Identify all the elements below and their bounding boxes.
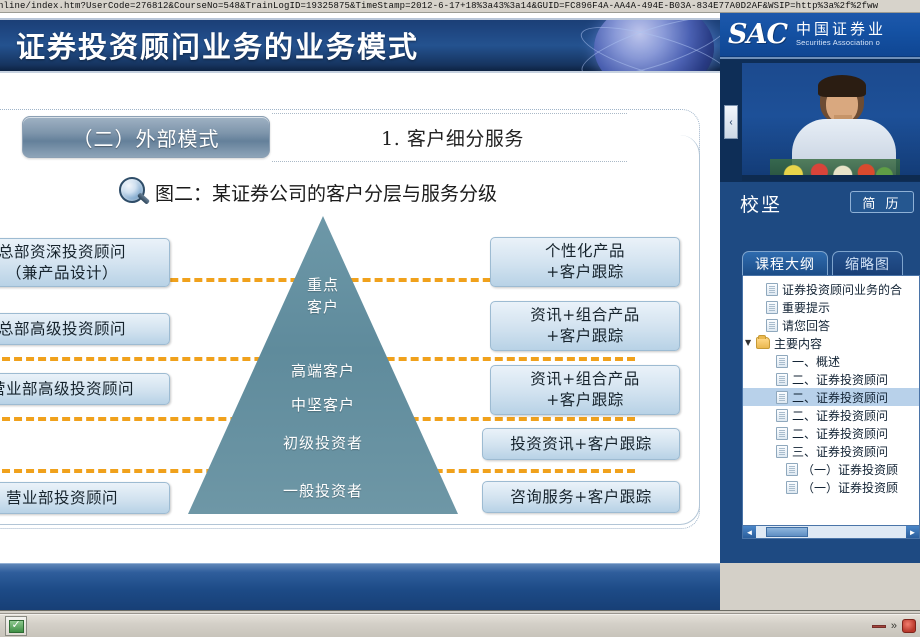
advisor-role-box-1: 总部资深投资顾问 （兼产品设计） (0, 238, 170, 287)
system-tray: » (872, 616, 916, 636)
outline-item[interactable]: （一）证券投资顾 (743, 460, 919, 478)
scroll-right-button[interactable]: ► (906, 526, 919, 538)
outline-item[interactable]: 重要提示 (743, 298, 919, 316)
scroll-left-button[interactable]: ◄ (743, 526, 756, 538)
course-outline-tree[interactable]: 证券投资顾问业务的合重要提示请您回答▼主要内容一、概述二、证券投资顾问二、证券投… (742, 275, 920, 533)
service-box-2-line-1: 资讯+组合产品 (530, 305, 640, 326)
lecturer-row: 校坚 简 历 (720, 182, 920, 224)
slide-title-banner: 证券投资顾问业务的业务模式 (0, 18, 720, 73)
advisor-role-box-1-line-2: （兼产品设计） (6, 263, 118, 284)
document-icon (776, 445, 788, 458)
figure-caption-row: 图二：某证券公司的客户分层与服务分级 (118, 177, 638, 207)
service-box-5: 咨询服务+客户跟踪 (482, 481, 680, 513)
outline-item-label: 主要内容 (774, 335, 822, 352)
outline-item[interactable]: 一、概述 (743, 352, 919, 370)
resume-button[interactable]: 简 历 (850, 191, 914, 213)
outline-item[interactable]: 三、证券投资顾问 (743, 442, 919, 460)
red-alert-icon[interactable] (902, 619, 916, 633)
subtitle-divider-top (272, 113, 627, 114)
outline-item[interactable]: 证券投资顾问业务的合 (743, 280, 919, 298)
document-icon (776, 409, 788, 422)
video-frame[interactable] (742, 63, 920, 181)
outline-item-label: （一）证券投资顾 (802, 479, 898, 496)
document-icon (776, 355, 788, 368)
section-tab: （二）外部模式 (22, 116, 270, 158)
pyramid-label-0: 重点 (188, 274, 458, 295)
document-icon (766, 301, 778, 314)
tab-course-outline[interactable]: 课程大纲 (742, 251, 828, 275)
advisor-role-box-3-line-1: 营业部高级投资顾问 (0, 379, 134, 400)
outline-item[interactable]: 二、证券投资顾问 (743, 370, 919, 388)
course-side-panel: SAC 中国证券业 Securities Association o ‹ 校坚 … (720, 13, 920, 563)
advisor-role-box-1-line-1: 总部资深投资顾问 (0, 242, 126, 263)
outline-item-label: 证券投资顾问业务的合 (782, 281, 902, 298)
document-icon (776, 373, 788, 386)
advisor-role-box-2-line-1: 总部高级投资顾问 (0, 319, 126, 340)
service-box-1-line-2: +客户跟踪 (546, 262, 624, 283)
section-subtitle: 1. 客户细分服务 (280, 117, 625, 157)
customer-pyramid: 重点 客户 高端客户 中坚客户 初级投资者 一般投资者 (188, 216, 458, 516)
outline-item[interactable]: 请您回答 (743, 316, 919, 334)
video-person-hair (818, 75, 866, 97)
outline-item-label: 请您回答 (782, 317, 830, 334)
service-box-1-line-1: 个性化产品 (545, 241, 625, 262)
outline-list: 证券投资顾问业务的合重要提示请您回答▼主要内容一、概述二、证券投资顾问二、证券投… (743, 276, 919, 496)
advisor-role-box-3: 营业部高级投资顾问 (0, 373, 170, 405)
outline-item-label: 重要提示 (782, 299, 830, 316)
player-control-bar: 幻灯片 | 7/57 | 播放 | 8/59 秒 (0, 563, 720, 610)
browser-address-bar[interactable]: nline/index.htm?UserCode=276812&CourseNo… (0, 0, 920, 13)
outline-item-label: 二、证券投资顾问 (792, 425, 888, 442)
os-taskbar (0, 614, 920, 637)
outline-item[interactable]: ▼主要内容 (743, 334, 919, 352)
document-icon (766, 283, 778, 296)
service-box-2: 资讯+组合产品 +客户跟踪 (490, 301, 680, 351)
service-box-4: 投资资讯+客户跟踪 (482, 428, 680, 460)
slide-stage: 证券投资顾问业务的业务模式 （二）外部模式 1. 客户细分服务 图二：某证券公司… (0, 13, 720, 563)
outline-item[interactable]: 二、证券投资顾问 (743, 388, 919, 406)
outline-item-label: 二、证券投资顾问 (792, 407, 888, 424)
service-box-3: 资讯+组合产品 +客户跟踪 (490, 365, 680, 415)
service-box-3-line-1: 资讯+组合产品 (530, 369, 640, 390)
advisor-role-box-2: 总部高级投资顾问 (0, 313, 170, 345)
magnifier-icon (118, 177, 152, 207)
sac-org-name: 中国证券业 Securities Association o (796, 21, 886, 48)
sac-org-name-cn: 中国证券业 (796, 21, 886, 38)
service-box-5-line-1: 咨询服务+客户跟踪 (510, 487, 652, 508)
document-icon (776, 427, 788, 440)
pyramid-label-2: 高端客户 (188, 360, 458, 381)
slide-title: 证券投资顾问业务的业务模式 (16, 28, 419, 66)
outline-item[interactable]: 二、证券投资顾问 (743, 406, 919, 424)
pyramid-label-3: 中坚客户 (188, 394, 458, 415)
service-box-2-line-2: +客户跟踪 (546, 326, 624, 347)
advisor-role-box-4: 营业部投资顾问 (0, 482, 170, 514)
taskbar-app-icon[interactable] (5, 616, 27, 636)
outline-item[interactable]: （一）证券投资顾 (743, 478, 919, 496)
document-icon (786, 481, 798, 494)
outline-item-label: （一）证券投资顾 (802, 461, 898, 478)
figure-caption: 图二：某证券公司的客户分层与服务分级 (155, 179, 497, 206)
subtitle-divider-bottom (272, 161, 627, 162)
document-icon (786, 463, 798, 476)
service-box-3-line-2: +客户跟踪 (546, 390, 624, 411)
sac-header: SAC 中国证券业 Securities Association o (720, 13, 920, 57)
dash-icon[interactable] (872, 625, 886, 628)
video-desk (742, 175, 920, 181)
panel-tabs: 课程大纲 缩略图 (742, 251, 920, 275)
chevron-down-icon[interactable]: ▼ (745, 339, 755, 347)
lecturer-name: 校坚 (740, 190, 782, 217)
service-box-1: 个性化产品 +客户跟踪 (490, 237, 680, 287)
outline-item-label: 二、证券投资顾问 (792, 389, 888, 406)
pyramid-label-4: 初级投资者 (188, 432, 458, 453)
document-icon (766, 319, 778, 332)
document-icon (776, 391, 788, 404)
globe-icon (594, 18, 714, 73)
sac-logo: SAC (728, 19, 787, 50)
tab-thumbnails[interactable]: 缩略图 (832, 251, 903, 275)
service-box-4-line-1: 投资资讯+客户跟踪 (510, 434, 652, 455)
folder-icon (756, 337, 770, 349)
outline-item-label: 三、证券投资顾问 (792, 443, 888, 460)
collapse-panel-icon[interactable]: ‹ (724, 105, 738, 139)
pyramid-label-5: 一般投资者 (188, 480, 458, 501)
outline-item-label: 一、概述 (792, 353, 840, 370)
tray-expand-icon[interactable]: » (891, 620, 897, 632)
outline-item-label: 二、证券投资顾问 (792, 371, 888, 388)
advisor-role-box-4-line-1: 营业部投资顾问 (6, 488, 118, 509)
outline-item[interactable]: 二、证券投资顾问 (743, 424, 919, 442)
lecturer-video[interactable]: ‹ (720, 57, 920, 182)
address-bar-url[interactable]: nline/index.htm?UserCode=276812&CourseNo… (0, 0, 920, 13)
section-tab-label: （二）外部模式 (73, 123, 220, 152)
scroll-thumb[interactable] (766, 527, 808, 537)
sac-org-name-en: Securities Association o (796, 38, 886, 48)
outline-horizontal-scrollbar[interactable]: ◄ ► (742, 525, 920, 539)
pyramid-label-1: 客户 (188, 296, 458, 317)
screen: nline/index.htm?UserCode=276812&CourseNo… (0, 0, 920, 637)
